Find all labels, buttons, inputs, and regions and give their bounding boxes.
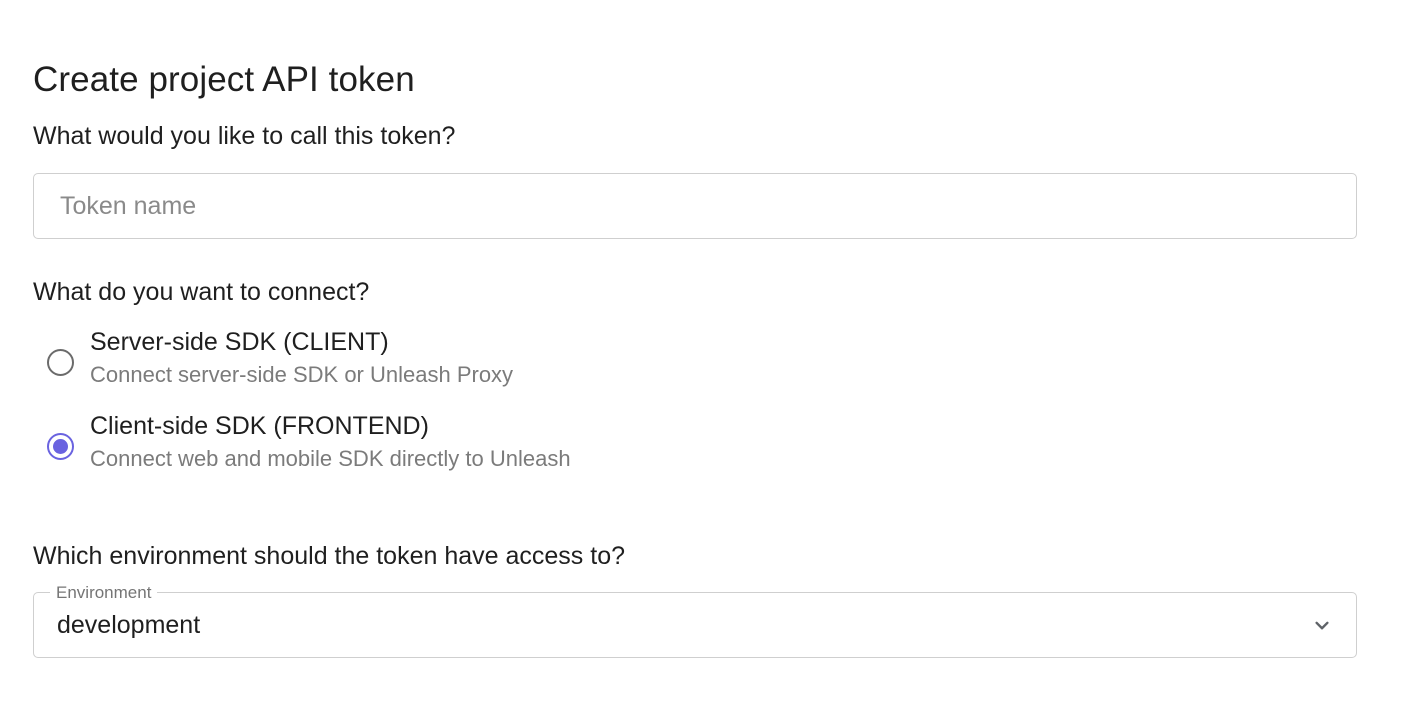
radio-label-block: Client-side SDK (FRONTEND) Connect web a…	[82, 406, 571, 474]
radio-option-server-side-sdk[interactable]: Server-side SDK (CLIENT) Connect server-…	[33, 322, 513, 390]
radio-option-title: Server-side SDK (CLIENT)	[90, 328, 389, 356]
chevron-down-icon[interactable]	[1305, 592, 1339, 658]
connect-question-label: What do you want to connect?	[33, 276, 369, 308]
token-name-question-label: What would you like to call this token?	[33, 120, 455, 152]
page-title: Create project API token	[33, 57, 415, 103]
environment-select-outline: Environment	[33, 592, 1357, 658]
token-type-radio-group: Server-side SDK (CLIENT) Connect server-…	[33, 322, 1357, 474]
create-project-api-token-form: Create project API token What would you …	[0, 0, 1404, 716]
radio-button-server-side-sdk[interactable]	[38, 340, 82, 384]
token-name-field-container[interactable]	[33, 173, 1357, 239]
radio-option-description: Connect server-side SDK or Unleash Proxy	[90, 359, 513, 390]
environment-select-value: development	[57, 592, 200, 658]
radio-label-block: Server-side SDK (CLIENT) Connect server-…	[82, 322, 513, 390]
environment-select[interactable]: Environment development	[33, 592, 1357, 658]
token-name-input[interactable]	[34, 174, 1356, 238]
environment-question-label: Which environment should the token have …	[33, 540, 625, 572]
radio-dot-icon	[53, 439, 68, 454]
radio-option-client-side-sdk[interactable]: Client-side SDK (FRONTEND) Connect web a…	[33, 406, 571, 474]
radio-option-title: Client-side SDK (FRONTEND)	[90, 412, 429, 440]
radio-button-client-side-sdk[interactable]	[38, 424, 82, 468]
radio-option-description: Connect web and mobile SDK directly to U…	[90, 443, 571, 474]
radio-ring-icon	[47, 349, 74, 376]
